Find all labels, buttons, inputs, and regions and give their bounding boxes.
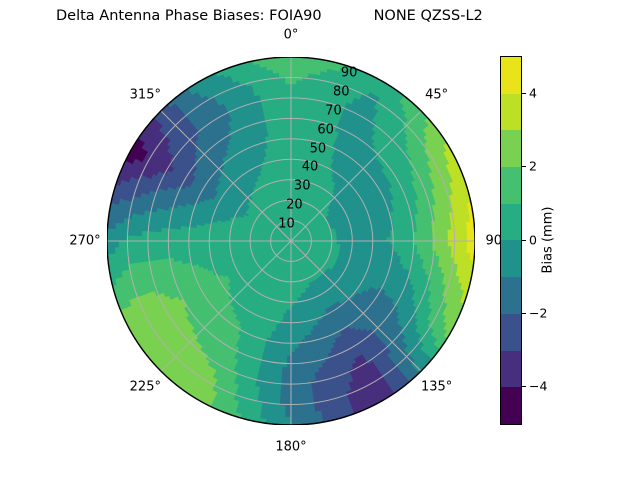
contour-cell — [285, 157, 288, 161]
contour-cell — [199, 244, 203, 247]
contour-cell — [291, 145, 294, 149]
contour-cell — [195, 244, 199, 247]
contour-cell — [291, 333, 294, 337]
figure-canvas: Delta Antenna Phase Biases: FOIA90 NONE … — [0, 0, 640, 480]
contour-cell — [391, 241, 395, 245]
contour-cell — [379, 235, 383, 238]
contour-cell — [387, 244, 391, 248]
contour-cell — [383, 241, 387, 244]
contour-cell — [191, 244, 195, 248]
polar-contour-plot — [107, 57, 475, 425]
title-signal: NONE QZSS-L2 — [374, 8, 483, 24]
contour-cell — [203, 244, 207, 247]
contour-cell — [294, 145, 297, 149]
contour-cell — [394, 241, 398, 245]
contour-cell — [391, 237, 395, 241]
contour-cell — [394, 234, 398, 238]
title-station: Delta Antenna Phase Biases: FOIA90 — [56, 8, 322, 24]
figure-title: Delta Antenna Phase Biases: FOIA90 NONE … — [0, 8, 520, 24]
contour-cell — [295, 344, 299, 348]
contour-cell — [191, 238, 195, 241]
contour-cell — [394, 237, 398, 241]
contour-cell — [291, 344, 295, 348]
contour-cell — [211, 244, 215, 247]
contour-cell — [387, 241, 391, 244]
contour-cell — [287, 344, 291, 348]
contour-cell — [383, 244, 387, 247]
contour-cell — [394, 245, 398, 249]
contour-cell — [367, 235, 371, 238]
contour-cell — [192, 248, 196, 252]
contour-cell — [387, 234, 391, 238]
contour-cell — [390, 234, 394, 238]
contour-cell — [195, 234, 199, 237]
polar-axes[interactable]: 0°45°90°135°180°225°270°315°102030405060… — [107, 57, 475, 425]
contour-cell — [298, 336, 302, 340]
contour-cell — [291, 134, 295, 138]
contour-cell — [287, 341, 291, 345]
contour-cell — [297, 333, 301, 337]
contour-cell — [284, 138, 288, 142]
contour-cell — [390, 230, 394, 234]
contour-cell — [383, 238, 387, 241]
contour-cell — [214, 244, 218, 247]
contour-cell — [294, 337, 298, 341]
contour-cell — [191, 241, 195, 244]
contour-cell — [294, 329, 297, 333]
contour-cell — [195, 238, 199, 241]
contour-cell — [294, 138, 298, 142]
contour-cell — [291, 337, 294, 341]
contour-cell — [281, 142, 285, 146]
contour-cell — [371, 235, 375, 238]
contour-cell — [291, 141, 294, 145]
contour-cell — [387, 238, 391, 241]
contour-cell — [280, 138, 284, 142]
contour-cell — [284, 333, 287, 337]
contour-cell — [195, 247, 199, 251]
contour-cell — [187, 241, 191, 245]
contour-cell — [284, 145, 287, 149]
contour-cell — [187, 237, 191, 241]
contour-cell — [188, 234, 192, 238]
contour-cell — [298, 340, 302, 344]
contour-cell — [285, 149, 288, 153]
contour-cell — [294, 340, 298, 344]
contour-cell — [284, 141, 288, 145]
contour-cell — [284, 337, 288, 341]
contour-cell — [294, 321, 297, 325]
contour-cell — [294, 317, 297, 321]
contour-cell — [285, 161, 288, 165]
contour-cell — [294, 325, 297, 329]
contour-cell — [294, 141, 298, 145]
contour-cell — [291, 137, 295, 141]
contour-cell — [288, 333, 291, 337]
contour-cell — [288, 141, 291, 145]
contour-cell — [386, 231, 390, 235]
contour-cell — [284, 340, 288, 344]
contour-cell — [285, 153, 288, 157]
contour-cell — [298, 344, 302, 348]
contour-cell — [281, 145, 285, 149]
contour-cell — [375, 235, 379, 238]
contour-cell — [207, 244, 211, 247]
contour-cell — [294, 314, 297, 318]
contour-cell — [291, 341, 295, 345]
contour-cell — [287, 137, 291, 141]
contour-cell — [184, 248, 188, 252]
contour-cell — [188, 244, 192, 248]
contour-cell — [394, 230, 398, 234]
contour-cell — [390, 244, 394, 248]
contour-cell — [191, 234, 195, 238]
contour-cell — [284, 344, 288, 348]
contour-cell — [288, 337, 291, 341]
contour-cell — [286, 164, 289, 168]
contour-cell — [383, 234, 387, 237]
contour-cell — [364, 236, 368, 239]
contour-cell — [288, 145, 291, 149]
contour-cell — [188, 248, 192, 252]
contour-cell — [294, 333, 297, 337]
contour-cell — [383, 231, 387, 235]
contour-cell — [295, 134, 299, 138]
contour-cell — [195, 241, 199, 244]
